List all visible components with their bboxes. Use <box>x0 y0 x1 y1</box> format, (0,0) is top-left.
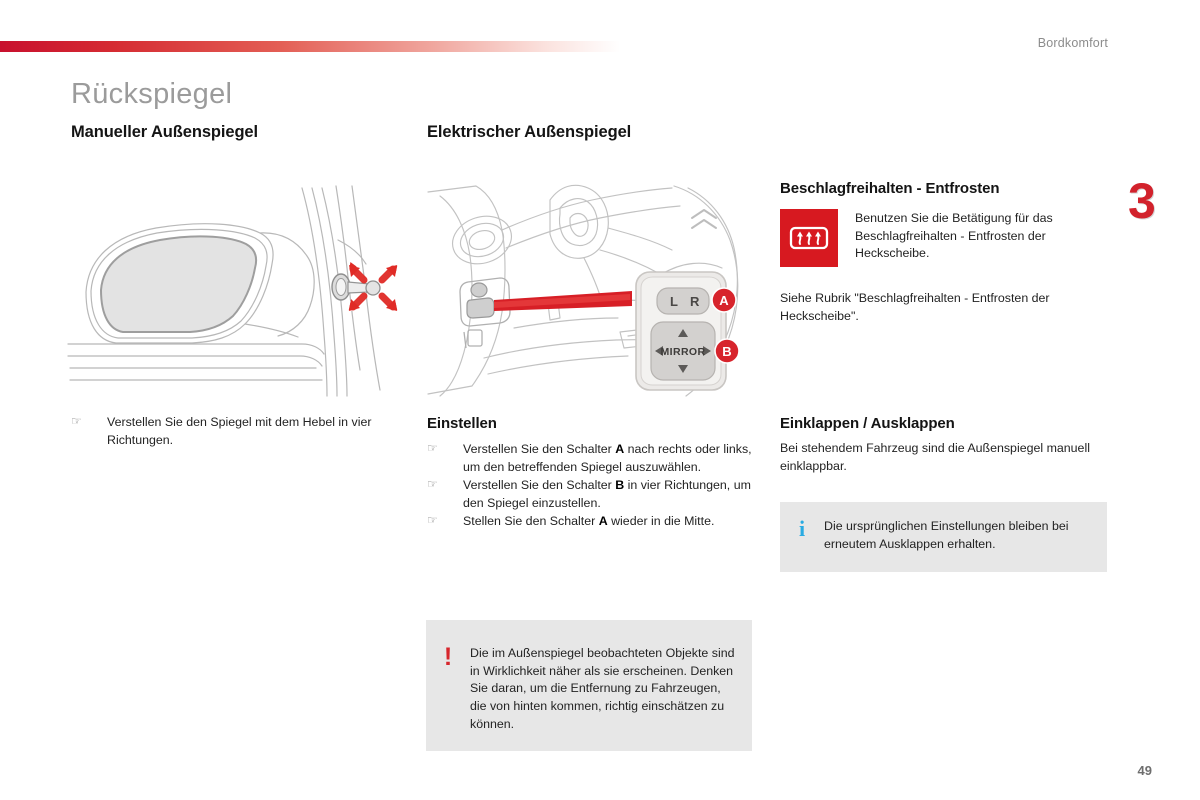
step-bold: A <box>615 442 624 456</box>
manual-door-mirror-illustration <box>64 184 404 404</box>
header-red-rule <box>0 41 620 52</box>
svg-text:B: B <box>722 344 731 359</box>
warning-text: Die im Außenspiegel beobachteten Objekte… <box>470 620 752 751</box>
fold-heading: Einklappen / Ausklappen <box>780 415 1110 432</box>
step-pre: Stellen Sie den Schalter <box>463 514 599 528</box>
mirror-control-module: L R MIRROR <box>636 272 726 390</box>
selector-label-right: R <box>690 294 700 309</box>
step-pre: Verstellen Sie den Schalter <box>463 478 615 492</box>
heading-electric-mirror: Elektrischer Außenspiegel <box>427 123 631 142</box>
step-bold: B <box>615 478 624 492</box>
page-number: 49 <box>1138 763 1152 778</box>
hand-bullet-icon: ☞ <box>71 413 82 431</box>
exclamation-icon: ! <box>426 620 470 751</box>
page-title: Rückspiegel <box>71 78 232 111</box>
heading-manual-mirror: Manueller Außenspiegel <box>71 123 258 142</box>
defrost-reference: Siehe Rubrik "Beschlagfreihalten - Entfr… <box>780 290 1110 325</box>
info-icon: i <box>780 502 824 572</box>
hand-bullet-icon: ☞ <box>427 512 438 530</box>
list-item: ☞ Verstellen Sie den Spiegel mit dem Heb… <box>71 414 406 449</box>
dashboard-mirror-control-illustration: L R MIRROR A B <box>424 182 756 405</box>
caption-text: Verstellen Sie den Spiegel mit dem Hebel… <box>107 415 371 447</box>
fold-text: Bei stehendem Fahrzeug sind die Außenspi… <box>780 440 1110 475</box>
list-item: ☞Verstellen Sie den Schalter A nach rech… <box>427 441 757 476</box>
selector-label-left: L <box>670 294 678 309</box>
manual-mirror-caption: ☞ Verstellen Sie den Spiegel mit dem Heb… <box>71 414 406 450</box>
hand-bullet-icon: ☞ <box>427 440 438 458</box>
callout-badge-b: B <box>715 339 739 363</box>
warning-box: ! Die im Außenspiegel beobachteten Objek… <box>426 620 752 751</box>
adjust-step-list: ☞Verstellen Sie den Schalter A nach rech… <box>427 441 757 531</box>
list-item: ☞Stellen Sie den Schalter A wieder in di… <box>427 513 757 531</box>
defrost-text: Benutzen Sie die Betätigung für das Besc… <box>855 209 1110 263</box>
step-pre: Verstellen Sie den Schalter <box>463 442 615 456</box>
mirror-pad-label: MIRROR <box>661 346 706 358</box>
info-text: Die ursprünglichen Einstellungen bleiben… <box>824 502 1107 572</box>
defrost-section: Beschlagfreihalten - Entfrosten <box>780 180 1110 267</box>
step-post: wieder in die Mitte. <box>608 514 715 528</box>
svg-text:A: A <box>719 293 729 308</box>
adjust-section: Einstellen ☞Verstellen Sie den Schalter … <box>427 415 757 532</box>
adjust-heading: Einstellen <box>427 415 757 432</box>
callout-badge-a: A <box>712 288 736 312</box>
manual-page: Bordkomfort 3 49 Rückspiegel Manueller A… <box>0 0 1200 800</box>
fold-section: Einklappen / Ausklappen Bei stehendem Fa… <box>780 415 1110 475</box>
hand-bullet-icon: ☞ <box>427 476 438 494</box>
list-item: ☞Verstellen Sie den Schalter B in vier R… <box>427 477 757 512</box>
info-box: i Die ursprünglichen Einstellungen bleib… <box>780 502 1107 572</box>
defrost-heading: Beschlagfreihalten - Entfrosten <box>780 180 1110 197</box>
chapter-number: 3 <box>1128 176 1156 226</box>
running-head: Bordkomfort <box>1038 36 1108 50</box>
rear-window-defrost-icon <box>780 209 838 267</box>
step-bold: A <box>599 514 608 528</box>
